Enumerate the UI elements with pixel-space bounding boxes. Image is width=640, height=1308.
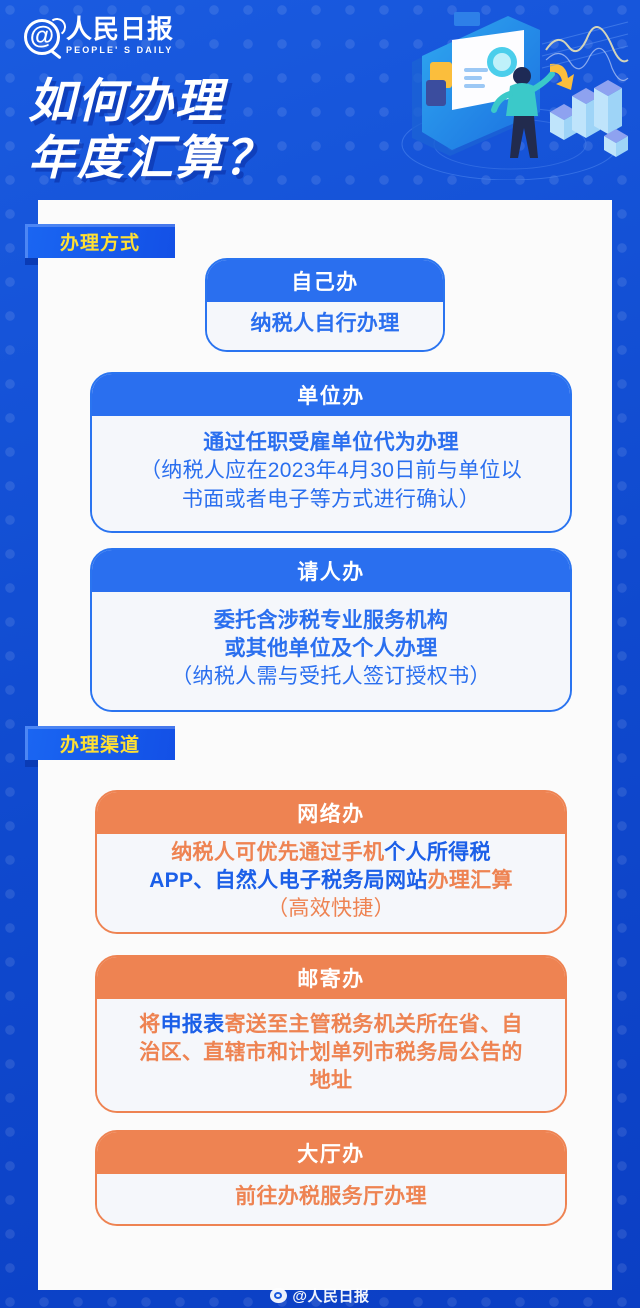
- card-line: 通过任职受雇单位代为办理: [203, 429, 459, 457]
- infographic-page: @ 人民日报 PEOPLE' S DAILY 如何办理 年度汇算？: [0, 0, 640, 1308]
- card-body: 纳税人可优先通过手机个人所得税 APP、自然人电子税务局网站办理汇算 （高效快捷…: [97, 834, 565, 932]
- card-line-highlight: APP、自然人电子税务局网站: [149, 869, 427, 892]
- card-body: 通过任职受雇单位代为办理 （纳税人应在2023年4月30日前与单位以 书面或者电…: [92, 416, 570, 531]
- card-line: （高效快捷）: [267, 895, 395, 923]
- bar-chart-3d: [550, 80, 628, 157]
- card-line-lead: 将: [139, 1013, 160, 1036]
- footer-handle: @人民日报: [292, 1285, 369, 1306]
- page-title: 如何办理 年度汇算？: [28, 72, 273, 187]
- card-line-text: 纳税人可优先通过手机: [171, 841, 384, 864]
- card-online-channel[interactable]: 网络办 纳税人可优先通过手机个人所得税 APP、自然人电子税务局网站办理汇算 （…: [95, 790, 567, 934]
- card-title: 自己办: [207, 260, 443, 302]
- card-title: 单位办: [92, 374, 570, 416]
- card-mail-channel[interactable]: 邮寄办 将申报表寄送至主管税务机关所在省、自 治区、直辖市和计划单列市税务局公告…: [95, 955, 567, 1113]
- card-line: 委托含涉税专业服务机构: [214, 607, 448, 635]
- logo-text: 人民日报 PEOPLE' S DAILY: [66, 16, 174, 55]
- dashboard-illustration: [390, 4, 636, 180]
- at-sign-icon: @: [24, 19, 60, 55]
- card-title: 邮寄办: [97, 957, 565, 999]
- card-title: 请人办: [92, 550, 570, 592]
- card-line: （纳税人应在2023年4月30日前与单位以: [140, 457, 522, 485]
- footer-watermark: @人民日报: [0, 1286, 640, 1308]
- card-line: 将申报表寄送至主管税务机关所在省、自: [139, 1011, 522, 1039]
- card-line-text: 办理汇算: [428, 869, 513, 892]
- card-agent-handling[interactable]: 请人办 委托含涉税专业服务机构 或其他单位及个人办理 （纳税人需与受托人签订授权…: [90, 548, 572, 712]
- card-title: 网络办: [97, 792, 565, 834]
- card-body: 前往办税服务厅办理: [97, 1174, 565, 1224]
- card-title: 大厅办: [97, 1132, 565, 1174]
- section-badge-channels: 办理渠道: [25, 726, 175, 760]
- weibo-icon: [270, 1288, 287, 1303]
- card-line: 纳税人自行办理: [250, 310, 399, 338]
- page-header: @ 人民日报 PEOPLE' S DAILY 如何办理 年度汇算？: [0, 0, 640, 200]
- card-employer-handling[interactable]: 单位办 通过任职受雇单位代为办理 （纳税人应在2023年4月30日前与单位以 书…: [90, 372, 572, 533]
- logo-name-cn: 人民日报: [66, 16, 174, 42]
- card-line: 前往办税服务厅办理: [235, 1183, 427, 1211]
- card-body: 委托含涉税专业服务机构 或其他单位及个人办理 （纳税人需与受托人签订授权书）: [92, 592, 570, 710]
- card-office-channel[interactable]: 大厅办 前往办税服务厅办理: [95, 1130, 567, 1226]
- card-line-highlight: 申报表: [161, 1013, 225, 1036]
- content-panel: 办理方式 自己办 纳税人自行办理 单位办 通过任职受雇单位代为办理 （纳税人应在…: [38, 200, 612, 1290]
- card-body: 将申报表寄送至主管税务机关所在省、自 治区、直辖市和计划单列市税务局公告的 地址: [97, 999, 565, 1111]
- card-self-handling[interactable]: 自己办 纳税人自行办理: [205, 258, 445, 352]
- card-line-highlight: 个人所得税: [384, 841, 491, 864]
- card-line: 或其他单位及个人办理: [225, 635, 438, 663]
- card-line: （纳税人需与受托人签订授权书）: [171, 663, 491, 691]
- logo-name-en: PEOPLE' S DAILY: [66, 46, 174, 55]
- card-line: APP、自然人电子税务局网站办理汇算: [149, 867, 513, 895]
- card-line: 书面或者电子等方式进行确认）: [182, 486, 480, 514]
- card-line-text: 寄送至主管税务机关所在省、自: [225, 1013, 523, 1036]
- card-line: 地址: [310, 1067, 353, 1095]
- peoples-daily-logo: @ 人民日报 PEOPLE' S DAILY: [24, 16, 174, 55]
- card-line: 治区、直辖市和计划单列市税务局公告的: [139, 1039, 522, 1067]
- section-badge-methods: 办理方式: [25, 224, 175, 258]
- card-line: 纳税人可优先通过手机个人所得税: [171, 839, 491, 867]
- card-body: 纳税人自行办理: [207, 302, 443, 350]
